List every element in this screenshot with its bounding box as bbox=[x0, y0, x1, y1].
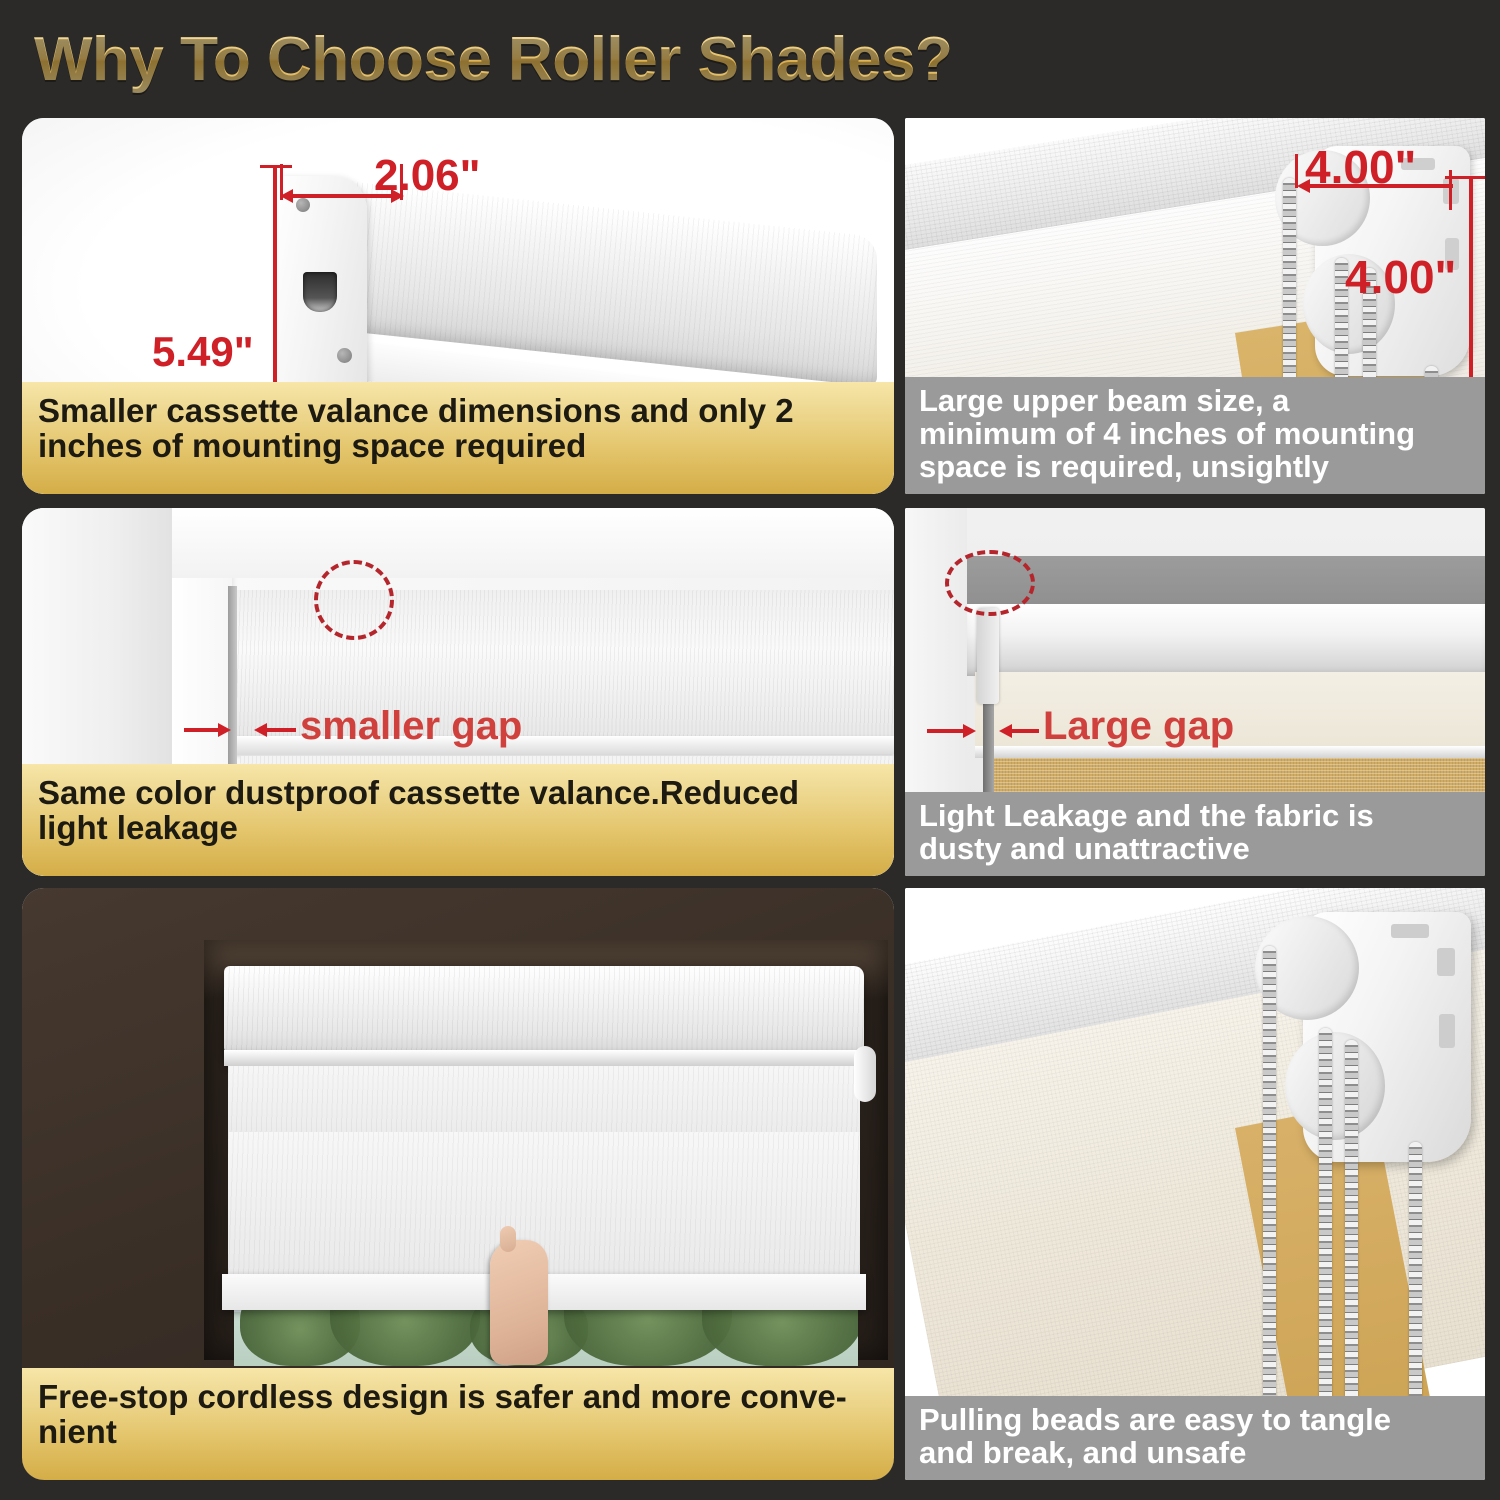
caption-con-pulling-beads: Pulling beads are easy to tangle and bre… bbox=[905, 1396, 1485, 1480]
caption-line: nient bbox=[38, 1415, 878, 1450]
roller-end bbox=[854, 1046, 876, 1102]
caption-line: inches of mounting space required bbox=[38, 429, 878, 464]
panel-con-pulling-beads: Pulling beads are easy to tangle and bre… bbox=[905, 888, 1485, 1480]
roller-bracket bbox=[1255, 910, 1470, 1180]
bead-chain bbox=[1263, 946, 1276, 1466]
gap-line-left bbox=[927, 729, 965, 733]
page-title: Why To Choose Roller Shades? bbox=[34, 22, 1334, 98]
caption-con-upper-beam: Large upper beam size, a minimum of 4 in… bbox=[905, 377, 1485, 494]
dim-tick-beam-top bbox=[1445, 176, 1485, 179]
dim-tick-width-a bbox=[280, 164, 283, 200]
cassette-valance-head bbox=[224, 966, 864, 1052]
caption-line: Same color dustproof cassette valance.Re… bbox=[38, 776, 878, 811]
highlight-circle-icon bbox=[945, 550, 1035, 616]
gray-header-band bbox=[967, 556, 1485, 608]
caption-line: Light Leakage and the fabric is bbox=[919, 800, 1471, 833]
highlight-circle-icon bbox=[314, 560, 394, 640]
gap-line-left bbox=[184, 728, 220, 732]
gap-line-right bbox=[266, 728, 296, 732]
panel-pro-dustproof-valance: smaller gap Same color dustproof cassett… bbox=[22, 508, 894, 876]
panel-pro-cordless-design: Free-stop cordless design is safer and m… bbox=[22, 888, 894, 1480]
dimension-label-beam-height: 4.00" bbox=[1345, 250, 1456, 304]
caption-line: Smaller cassette valance dimensions and … bbox=[38, 394, 878, 429]
caption-line: space is required, unsightly bbox=[919, 451, 1471, 484]
shade-fabric-upper bbox=[228, 1066, 860, 1132]
dim-tick-height-top bbox=[260, 165, 292, 168]
dimension-label-beam-width: 4.00" bbox=[1305, 140, 1416, 194]
dimension-label-width: 2.06" bbox=[374, 151, 481, 201]
panel-con-light-leakage: Large gap Light Leakage and the fabric i… bbox=[905, 508, 1485, 876]
dim-line-beam-height bbox=[1469, 176, 1473, 384]
mounting-clip bbox=[977, 608, 999, 704]
valance-lip bbox=[224, 1050, 864, 1066]
caption-line: Free-stop cordless design is safer and m… bbox=[38, 1380, 878, 1415]
caption-line: light leakage bbox=[38, 811, 878, 846]
caption-line: and break, and unsafe bbox=[919, 1437, 1471, 1470]
panel-pro-cassette-valance: 2.06" 5.49" Smaller cassette valance dim… bbox=[22, 118, 894, 494]
dimension-label-height: 5.49" bbox=[152, 328, 254, 376]
caption-line: Pulling beads are easy to tangle bbox=[919, 1404, 1471, 1437]
window-head-jamb bbox=[172, 508, 894, 578]
caption-pro-cassette-valance: Smaller cassette valance dimensions and … bbox=[22, 382, 894, 494]
gap-line-right bbox=[1011, 729, 1039, 733]
panel-con-upper-beam: 4.00" 4.00" Large upper beam size, a min… bbox=[905, 118, 1485, 494]
caption-pro-dustproof-valance: Same color dustproof cassette valance.Re… bbox=[22, 764, 894, 876]
caption-con-light-leakage: Light Leakage and the fabric is dusty an… bbox=[905, 792, 1485, 876]
caption-line: dusty and unattractive bbox=[919, 833, 1471, 866]
hand-pulling-shade bbox=[490, 1240, 548, 1365]
gap-label-large: Large gap bbox=[1043, 704, 1234, 749]
gap-label-smaller: smaller gap bbox=[300, 704, 522, 749]
roller-tube bbox=[967, 604, 1485, 676]
caption-pro-cordless-design: Free-stop cordless design is safer and m… bbox=[22, 1368, 894, 1480]
dim-tick-beam-a bbox=[1295, 154, 1298, 188]
caption-line: Large upper beam size, a bbox=[919, 385, 1471, 418]
caption-line: minimum of 4 inches of mounting bbox=[919, 418, 1471, 451]
product-photo-pulling-beads bbox=[905, 888, 1485, 1480]
